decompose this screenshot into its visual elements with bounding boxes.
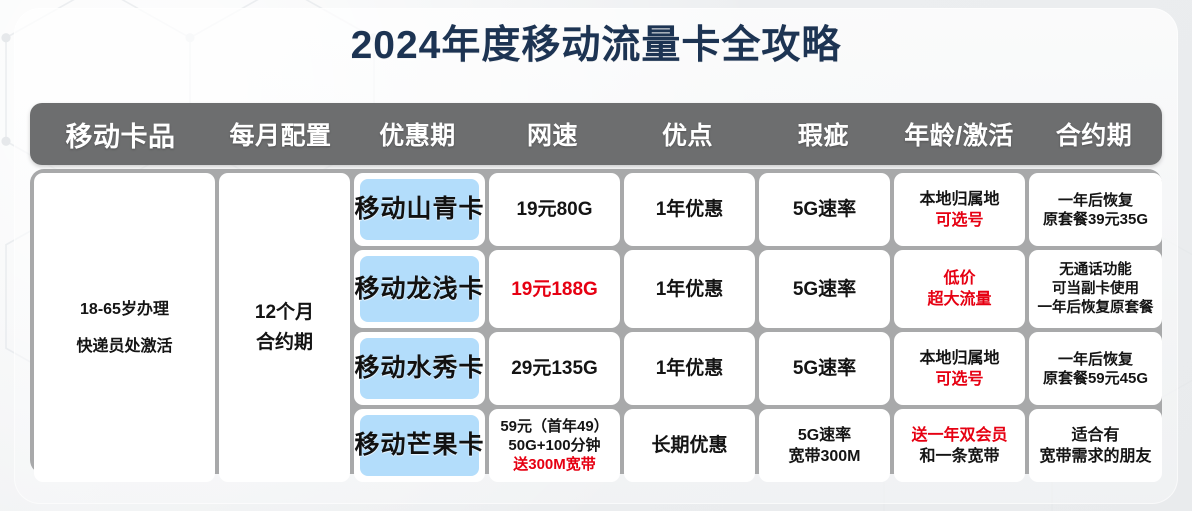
cell-cons: 适合有 宽带需求的朋友 <box>1029 409 1162 482</box>
column-header-network-speed: 网速 <box>485 116 620 152</box>
cell-monthly-plan: 29元135G <box>489 332 620 405</box>
cell-pros: 送一年双会员 和一条宽带 <box>894 409 1025 482</box>
card-name-badge: 移动龙浅卡 <box>360 256 479 322</box>
column-header-age-activation: 年龄/激活 <box>892 116 1026 152</box>
cell-promo-period: 长期优惠 <box>624 409 755 482</box>
cell-promo-period: 1年优惠 <box>624 250 755 328</box>
column-header-card-name: 移动卡品 <box>30 115 211 154</box>
page-title: 2024年度移动流量卡全攻略 <box>0 23 1192 69</box>
cell-pros: 低价 超大流量 <box>894 250 1025 328</box>
cell-monthly-plan: 19元188G <box>489 250 620 328</box>
cell-monthly-plan: 19元80G <box>489 173 620 246</box>
cell-cons: 无通话功能 可当副卡使用 一年后恢复原套餐 <box>1029 250 1162 328</box>
card-name-badge: 移动芒果卡 <box>360 415 479 476</box>
cell-network-speed: 5G速率 <box>759 332 890 405</box>
column-header-pros: 优点 <box>620 116 755 152</box>
poster-canvas: 2024年度移动流量卡全攻略 移动卡品 每月配置 优惠期 网速 优点 瑕疵 年龄… <box>0 0 1192 511</box>
cell-promo-period: 1年优惠 <box>624 173 755 246</box>
cell-monthly-plan: 59元（首年49） 50G+100分钟 送300M宽带 <box>489 409 620 482</box>
column-header-contract-period: 合约期 <box>1026 116 1162 152</box>
cell-network-speed: 5G速率 <box>759 250 890 328</box>
cell-pros: 本地归属地 可选号 <box>894 173 1025 246</box>
cell-contract-period-merged: 12个月 合约期 <box>219 173 350 482</box>
table-row[interactable]: 移动芒果卡 <box>354 409 485 482</box>
cell-network-speed: 5G速率 <box>759 173 890 246</box>
column-header-monthly-plan: 每月配置 <box>211 116 350 152</box>
cell-age-activation-merged: 18-65岁办理 快递员处激活 <box>34 173 215 482</box>
cell-network-speed: 5G速率 宽带300M <box>759 409 890 482</box>
table-header-row: 移动卡品 每月配置 优惠期 网速 优点 瑕疵 年龄/激活 合约期 <box>30 103 1162 165</box>
column-header-promo-period: 优惠期 <box>350 116 485 152</box>
card-name-badge: 移动水秀卡 <box>360 338 479 399</box>
cell-cons: 一年后恢复 原套餐59元45G <box>1029 332 1162 405</box>
cell-promo-period: 1年优惠 <box>624 332 755 405</box>
card-name-badge: 移动山青卡 <box>360 179 479 240</box>
table-row[interactable]: 移动龙浅卡 <box>354 250 485 328</box>
table-body: 移动山青卡 19元80G 1年优惠 5G速率 本地归属地 可选号 一年后恢复 原… <box>30 169 1162 474</box>
cell-pros: 本地归属地 可选号 <box>894 332 1025 405</box>
table-row[interactable]: 移动山青卡 <box>354 173 485 246</box>
column-header-cons: 瑕疵 <box>755 116 892 152</box>
cell-cons: 一年后恢复 原套餐39元35G <box>1029 173 1162 246</box>
table-row[interactable]: 移动水秀卡 <box>354 332 485 405</box>
